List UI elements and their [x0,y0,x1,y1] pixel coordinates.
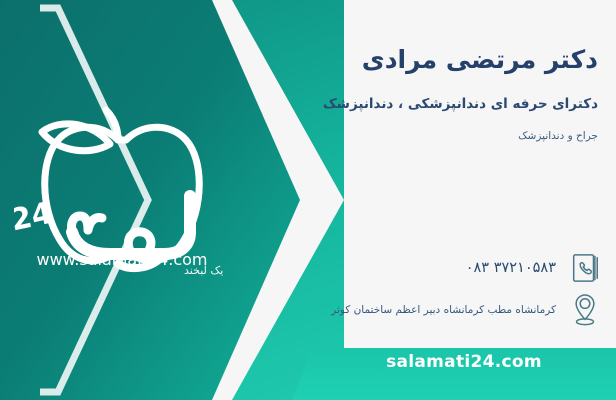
doctor-name: دکتر مرتضی مرادی [178,44,598,75]
map-pin-icon [568,292,602,328]
apple-outline-icon [42,110,199,261]
doctor-degree: دکترای حرفه ای دندانپزشکی ، دندانپزشک [178,96,598,112]
doctor-specialty: جراح و دندانپزشک [178,130,598,142]
address-text: کرمانشاه مطب کرمانشاه دبیر اعظم ساختمان … [331,304,556,316]
footer-website[interactable]: salamati24.com [312,352,616,372]
phone-number: ۳۷۲۱۰۵۸۳ ۰۸۳ [466,260,556,276]
phone-book-icon [568,250,602,286]
contact-row-phone: ۳۷۲۱۰۵۸۳ ۰۸۳ [466,250,602,286]
logo-website: www.salamati24.com [22,250,222,269]
contact-row-address: کرمانشاه مطب کرمانشاه دبیر اعظم ساختمان … [331,292,602,328]
business-card: 24 به راحتی یک لبخند www.salamati24.com … [0,0,616,400]
logo-number: 24 [14,196,56,239]
